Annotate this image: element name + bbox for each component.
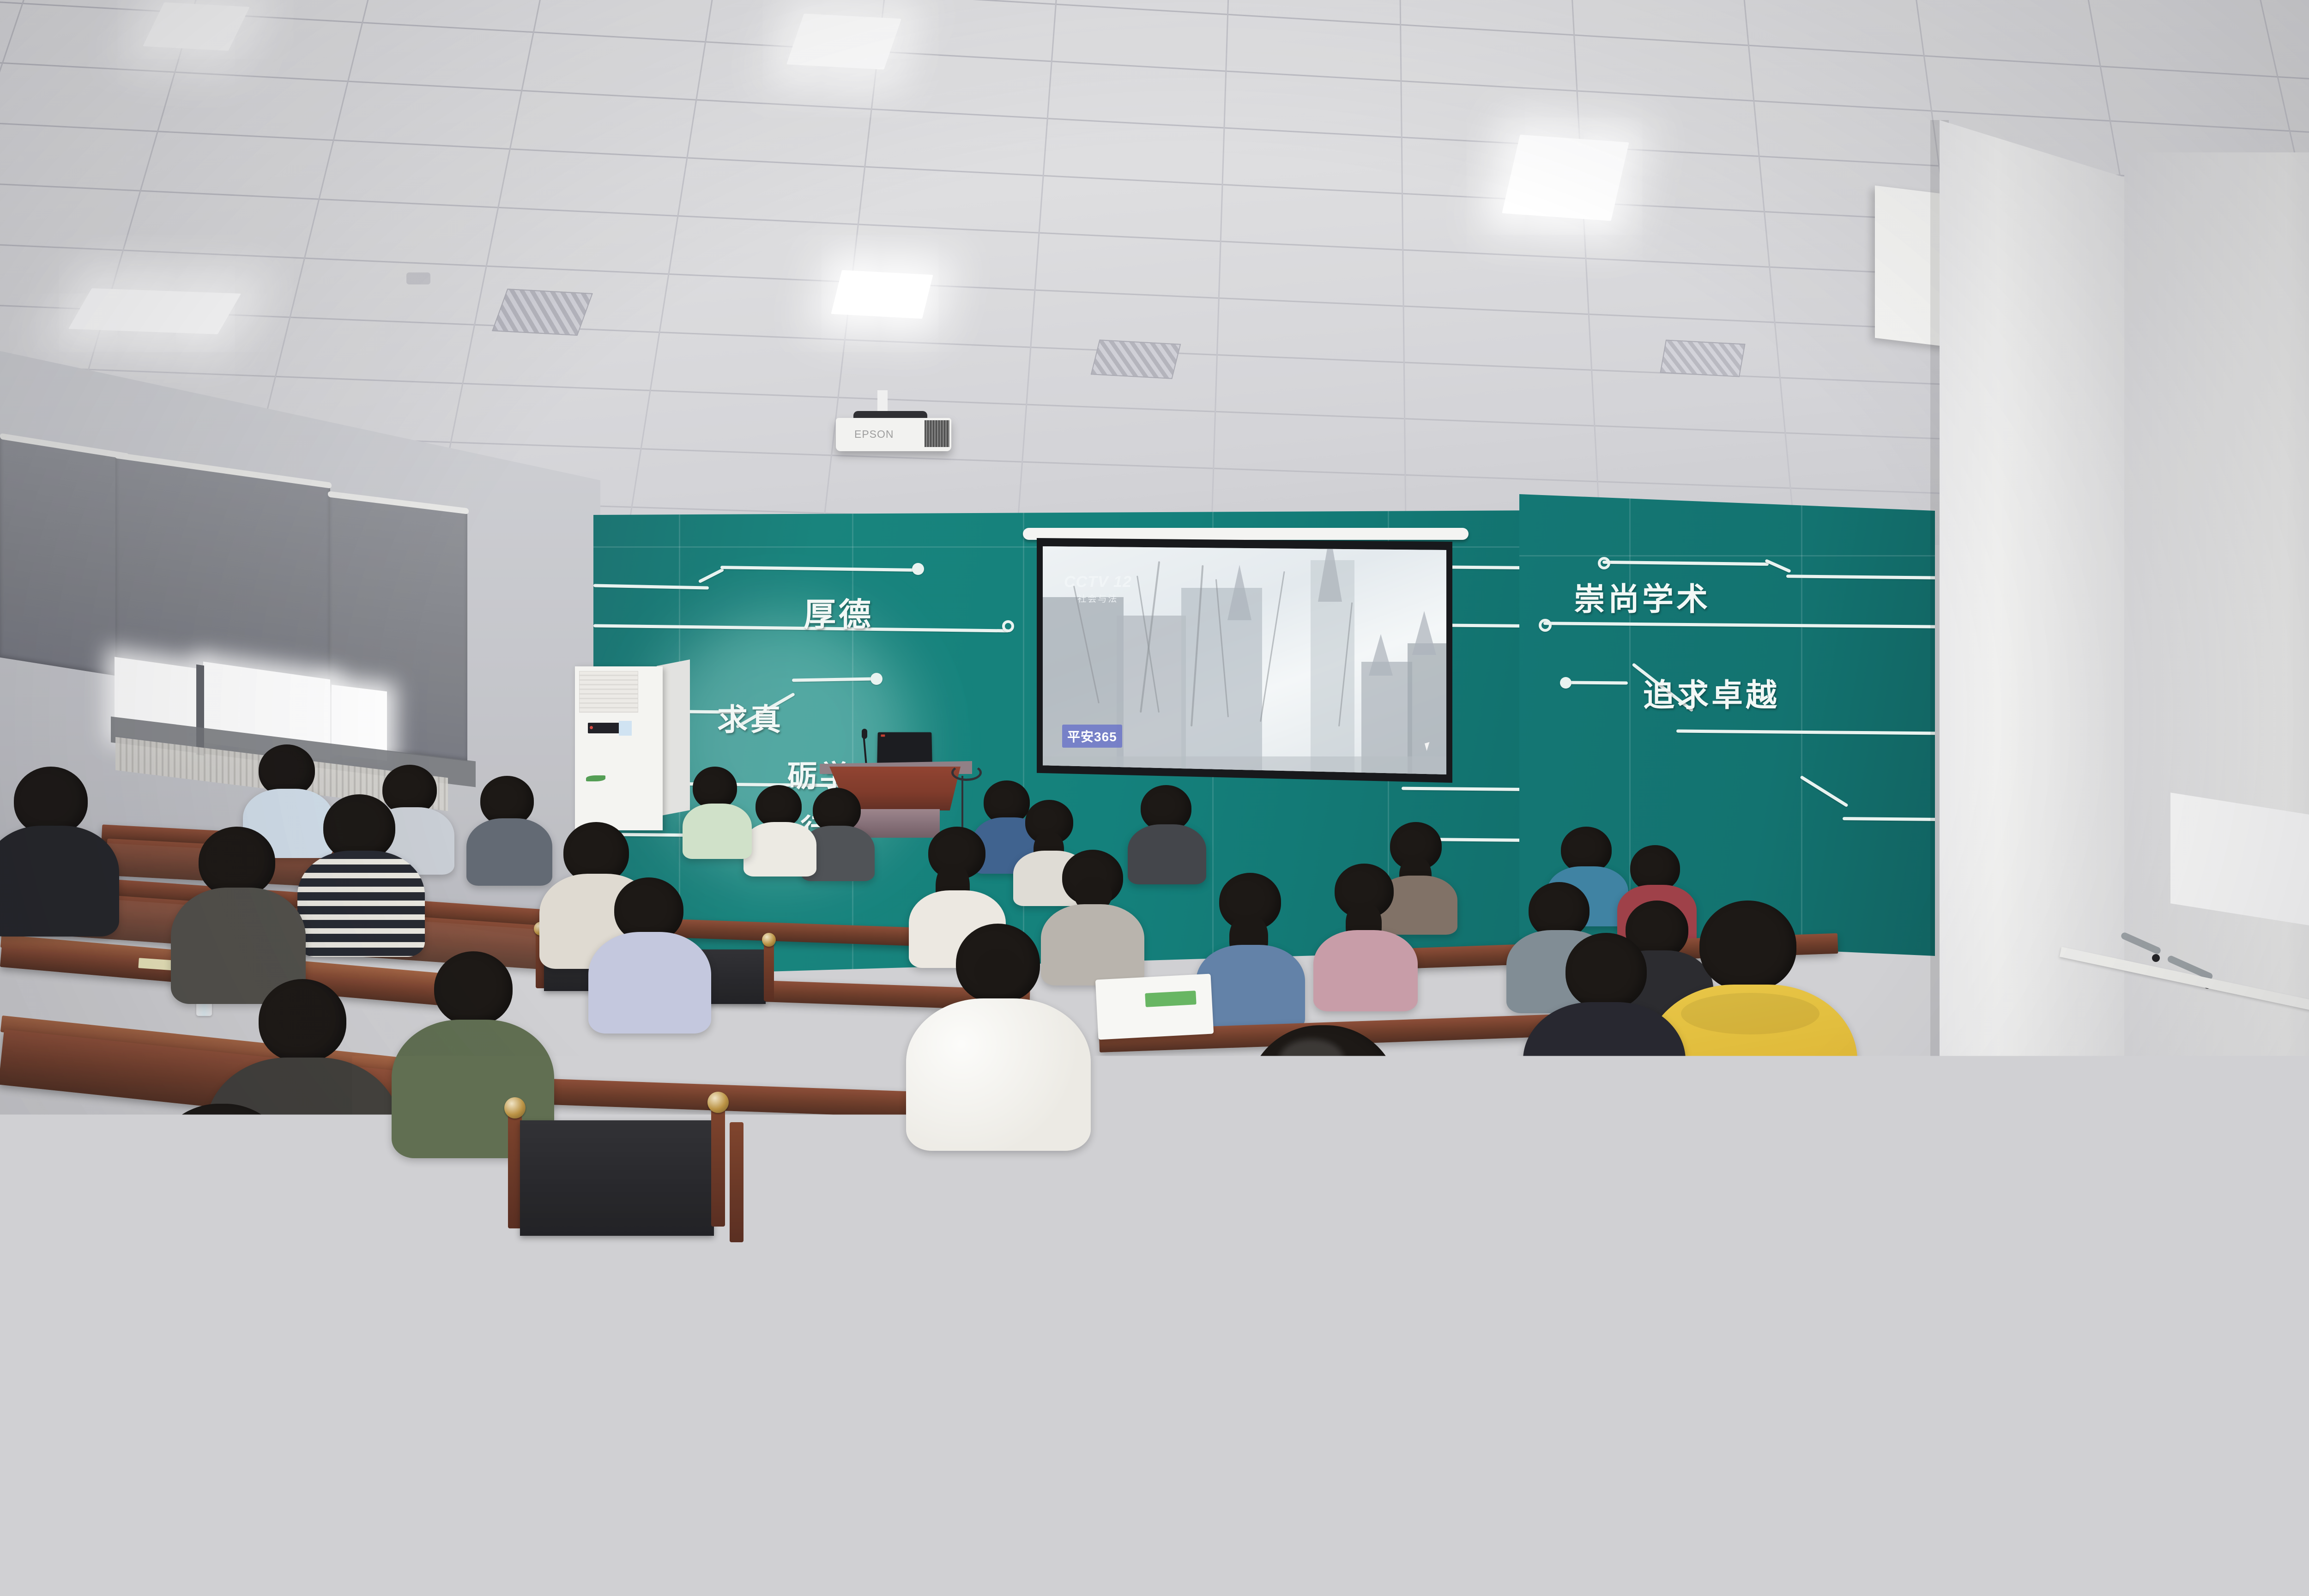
ceiling-light-2 [786, 13, 901, 69]
projection-screen: CCTV 12 社会与法 平安365 [1043, 546, 1446, 774]
cctv-channel-subtitle: 社会与法 [1064, 592, 1132, 605]
ceiling-light-4 [831, 270, 933, 319]
roller-blind-1 [0, 436, 125, 677]
floor-litter-1 [2041, 1348, 2058, 1358]
program-badge: 平安365 [1062, 725, 1122, 748]
right-wall-panel [2170, 792, 2309, 925]
wall-motto-chongshang-xueshu: 崇尚学术 [1574, 574, 1711, 619]
structural-column [1940, 120, 2134, 1367]
tote-bag[interactable] [1095, 974, 1214, 1040]
rail-bracket-cap-1 [2152, 954, 2160, 962]
yellow-jacket-hood [1681, 993, 1819, 1034]
ac-badge [619, 721, 632, 736]
wall-motto-qiuzhen: 求真 [717, 695, 784, 739]
wall-motto-zhuiqiu-zhuoyue: 追求卓越 [1643, 670, 1780, 715]
ceiling-air-vent-3 [1660, 339, 1745, 377]
ceiling-air-vent-2 [1091, 339, 1181, 379]
ceiling-smoke-detector [406, 272, 430, 284]
projector-brand-label: EPSON [854, 428, 894, 441]
wall-motto-houde: 厚德 [804, 589, 874, 635]
floor-air-conditioner [575, 666, 663, 830]
ceiling-air-vent-1 [492, 289, 593, 336]
ceiling-projector: EPSON [836, 418, 951, 451]
projector-vent [925, 420, 949, 447]
ceiling-light-5 [68, 288, 241, 334]
shirt-collar [1238, 1178, 1413, 1219]
cctv-channel-logo: CCTV 12 社会与法 [1064, 573, 1132, 605]
podium-laptop[interactable] [877, 732, 932, 764]
ceiling-light-3 [1502, 135, 1629, 221]
ac-grille [579, 671, 638, 713]
lecture-hall-photo: EPSON [0, 0, 2309, 1596]
floor-litter-2 [2073, 1357, 2095, 1369]
tote-bag-logo [1145, 991, 1196, 1007]
cctv-channel-name: CCTV 12 [1064, 573, 1132, 591]
ac-leaf-icon [586, 775, 605, 781]
podium-cable-coil [951, 764, 982, 781]
microphone-head [862, 729, 867, 739]
screen-roller-housing [1023, 528, 1469, 540]
